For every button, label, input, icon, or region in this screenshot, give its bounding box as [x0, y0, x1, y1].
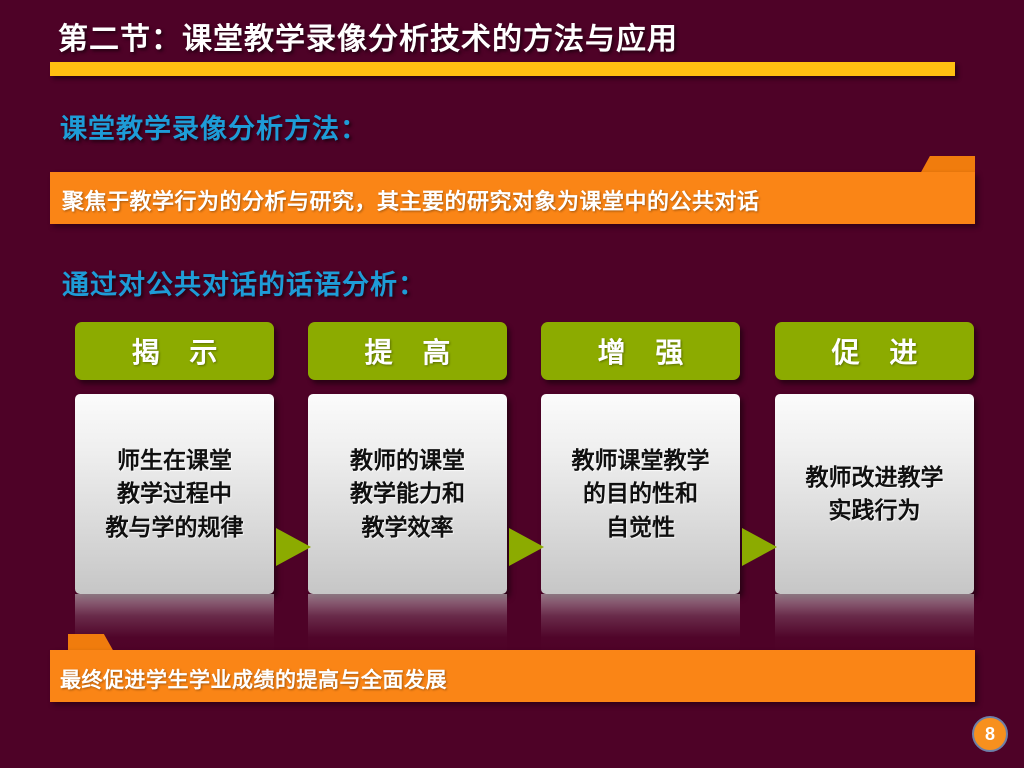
presentation-slide: 第二节：课堂教学录像分析技术的方法与应用 课堂教学录像分析方法： 聚焦于教学行为… [0, 0, 1024, 768]
flow-arrow-right-icon-1 [276, 528, 311, 566]
flow-reflection-3 [541, 594, 740, 652]
flow-arrow-right-icon-3 [742, 528, 777, 566]
flow-content-box-3: 教师课堂教学的目的性和自觉性 [541, 394, 740, 594]
flow-header-box-4: 促 进 [775, 322, 974, 380]
flow-content-text-1: 师生在课堂教学过程中教与学的规律 [98, 444, 252, 544]
flow-column-1: 揭 示 师生在课堂教学过程中教与学的规律 [75, 322, 274, 652]
flow-header-box-3: 增 强 [541, 322, 740, 380]
flow-content-text-3: 教师课堂教学的目的性和自觉性 [564, 444, 718, 544]
bottom-ribbon-text: 最终促进学生学业成绩的提高与全面发展 [60, 664, 447, 694]
flow-content-text-4: 教师改进教学实践行为 [798, 461, 952, 528]
page-number-badge: 8 [972, 716, 1008, 752]
flow-reflection-2 [308, 594, 507, 652]
flow-arrow-right-icon-2 [509, 528, 544, 566]
flow-content-text-2: 教师的课堂教学能力和教学效率 [342, 444, 473, 544]
flow-column-4: 促 进 教师改进教学实践行为 [775, 322, 974, 652]
flow-header-box-2: 提 高 [308, 322, 507, 380]
flow-column-2: 提 高 教师的课堂教学能力和教学效率 [308, 322, 507, 652]
flow-header-label-3: 增 强 [587, 331, 695, 371]
flow-reflection-4 [775, 594, 974, 652]
flow-content-box-2: 教师的课堂教学能力和教学效率 [308, 394, 507, 594]
flow-header-label-1: 揭 示 [121, 331, 229, 371]
flow-column-3: 增 强 教师课堂教学的目的性和自觉性 [541, 322, 740, 652]
flow-header-box-1: 揭 示 [75, 322, 274, 380]
flow-header-label-4: 促 进 [821, 331, 929, 371]
flow-content-box-4: 教师改进教学实践行为 [775, 394, 974, 594]
flow-header-label-2: 提 高 [354, 331, 462, 371]
flow-content-box-1: 师生在课堂教学过程中教与学的规律 [75, 394, 274, 594]
